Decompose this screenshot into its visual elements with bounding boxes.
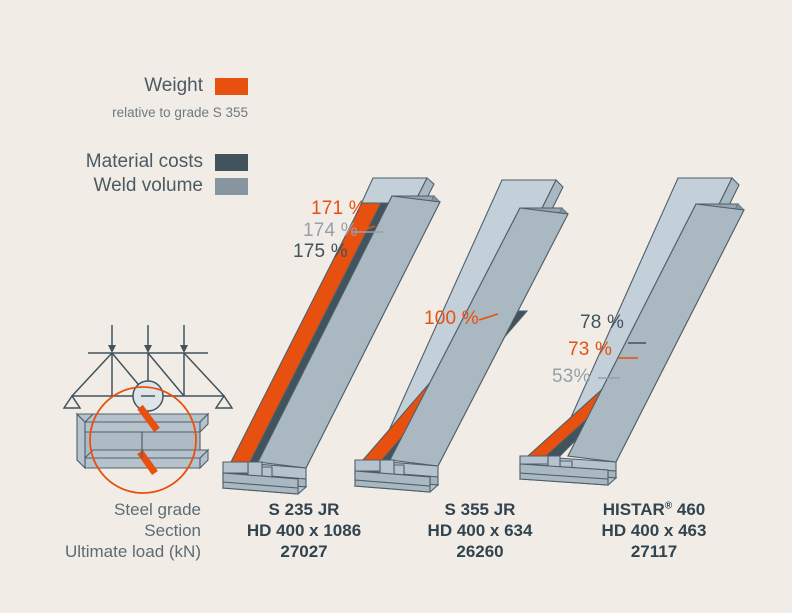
legend-note-relative: relative to grade S 355 — [0, 105, 305, 120]
cell-steel-grade-1: S 235 JR — [229, 500, 379, 520]
table-row-steel-grade: Steel grade S 235 JR S 355 JR HISTAR® 46… — [0, 500, 792, 521]
legend-swatch-weight — [215, 78, 248, 95]
value-label-beam1-material-costs: 175 % — [293, 241, 348, 263]
row-header-section: Section — [0, 521, 215, 541]
legend-label-material-costs: Material costs — [86, 150, 203, 174]
cell-steel-grade-3-text: HISTAR® 460 — [603, 500, 705, 519]
value-label-beam2-weight: 100 % — [424, 308, 479, 330]
section-top-flange-face — [85, 422, 200, 432]
beam2-cross-section — [355, 460, 438, 492]
table-row-section: Section HD 400 x 1086 HD 400 x 634 HD 40… — [0, 521, 792, 542]
cell-ultimate-load-2: 26260 — [405, 542, 555, 562]
table-row-ultimate-load: Ultimate load (kN) 27027 26260 27117 — [0, 542, 792, 563]
beam1-cross-section — [223, 462, 306, 494]
legend-item-weld-volume: Weld volume — [0, 174, 248, 198]
truss-load-arrows — [108, 325, 188, 353]
row-header-steel-grade: Steel grade — [0, 500, 215, 520]
comparison-table: Steel grade S 235 JR S 355 JR HISTAR® 46… — [0, 500, 792, 563]
legend-item-weight: Weight — [0, 74, 248, 98]
legend-label-weight: Weight — [144, 74, 203, 98]
cell-section-1: HD 400 x 1086 — [229, 521, 379, 541]
section-left-back — [77, 414, 85, 468]
cell-section-2: HD 400 x 634 — [405, 521, 555, 541]
cell-ultimate-load-3: 27117 — [579, 542, 729, 562]
row-header-ultimate-load: Ultimate load (kN) — [0, 542, 215, 562]
cell-steel-grade-2: S 355 JR — [405, 500, 555, 520]
value-label-beam1-weight: 171 % — [311, 198, 366, 220]
value-label-beam3-weight: 73 % — [568, 339, 612, 361]
value-label-beam3-material-costs: 78 % — [580, 312, 624, 334]
value-label-beam3-weld-volume: 53% — [552, 366, 591, 388]
legend-item-material-costs: Material costs — [0, 150, 248, 174]
legend-swatch-material-costs — [215, 154, 248, 171]
legend-label-weld-volume: Weld volume — [94, 174, 203, 198]
truss-minus-node — [133, 381, 163, 411]
legend-swatch-weld-volume — [215, 178, 248, 195]
infographic-root: .ed{stroke:#4d5f6a;stroke-width:1.1;stro… — [0, 0, 792, 613]
value-label-beam1-weld-volume: 174 % — [303, 220, 358, 242]
cell-section-3: HD 400 x 463 — [579, 521, 729, 541]
cell-ultimate-load-1: 27027 — [229, 542, 379, 562]
cell-steel-grade-3: HISTAR® 460 — [579, 500, 729, 520]
